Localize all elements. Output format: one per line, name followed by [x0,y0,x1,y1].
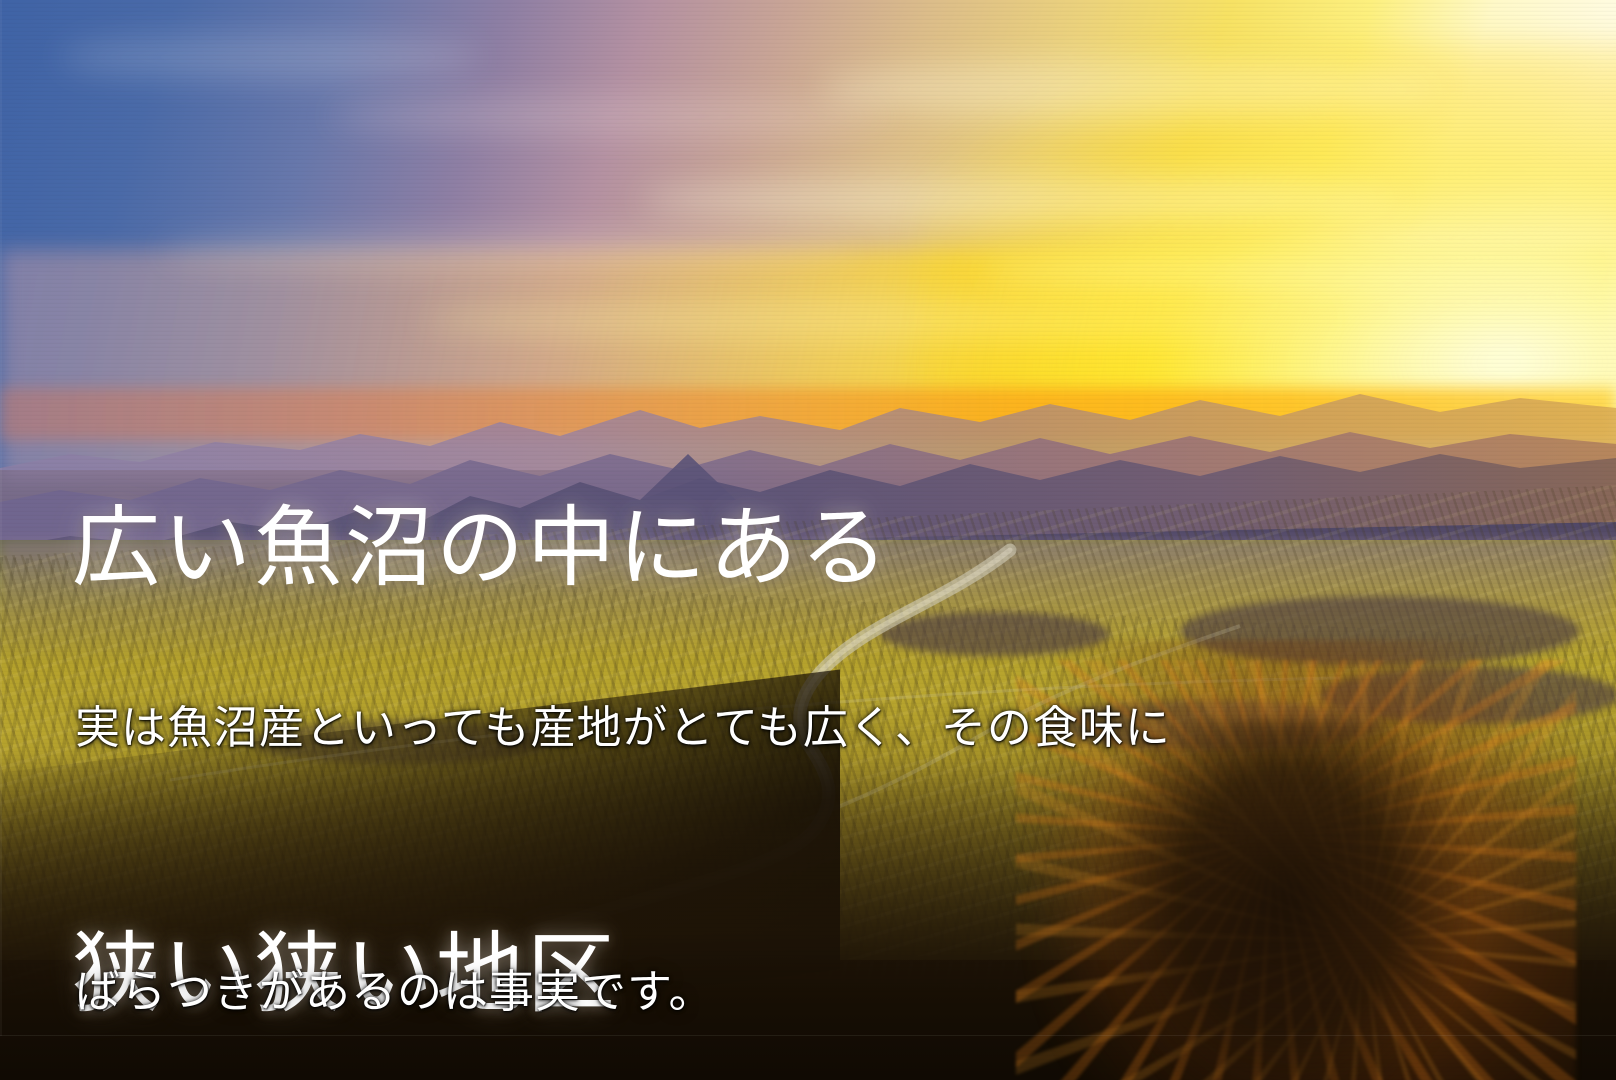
hero-section: 広い魚沼の中にある 狭い狭い地区 実は魚沼産といっても産地がとても広く、その食味… [0,0,1616,1080]
body-line-2: ばらつきがあるのは事実です。 [75,948,1177,1036]
hero-content: 広い魚沼の中にある 狭い狭い地区 実は魚沼産といっても産地がとても広く、その食味… [0,0,1616,1080]
body-paragraph: 実は魚沼産といっても産地がとても広く、その食味に ばらつきがあるのは事実です。 … [75,508,1177,1080]
body-line-1: 実は魚沼産といっても産地がとても広く、その食味に [75,684,1177,772]
